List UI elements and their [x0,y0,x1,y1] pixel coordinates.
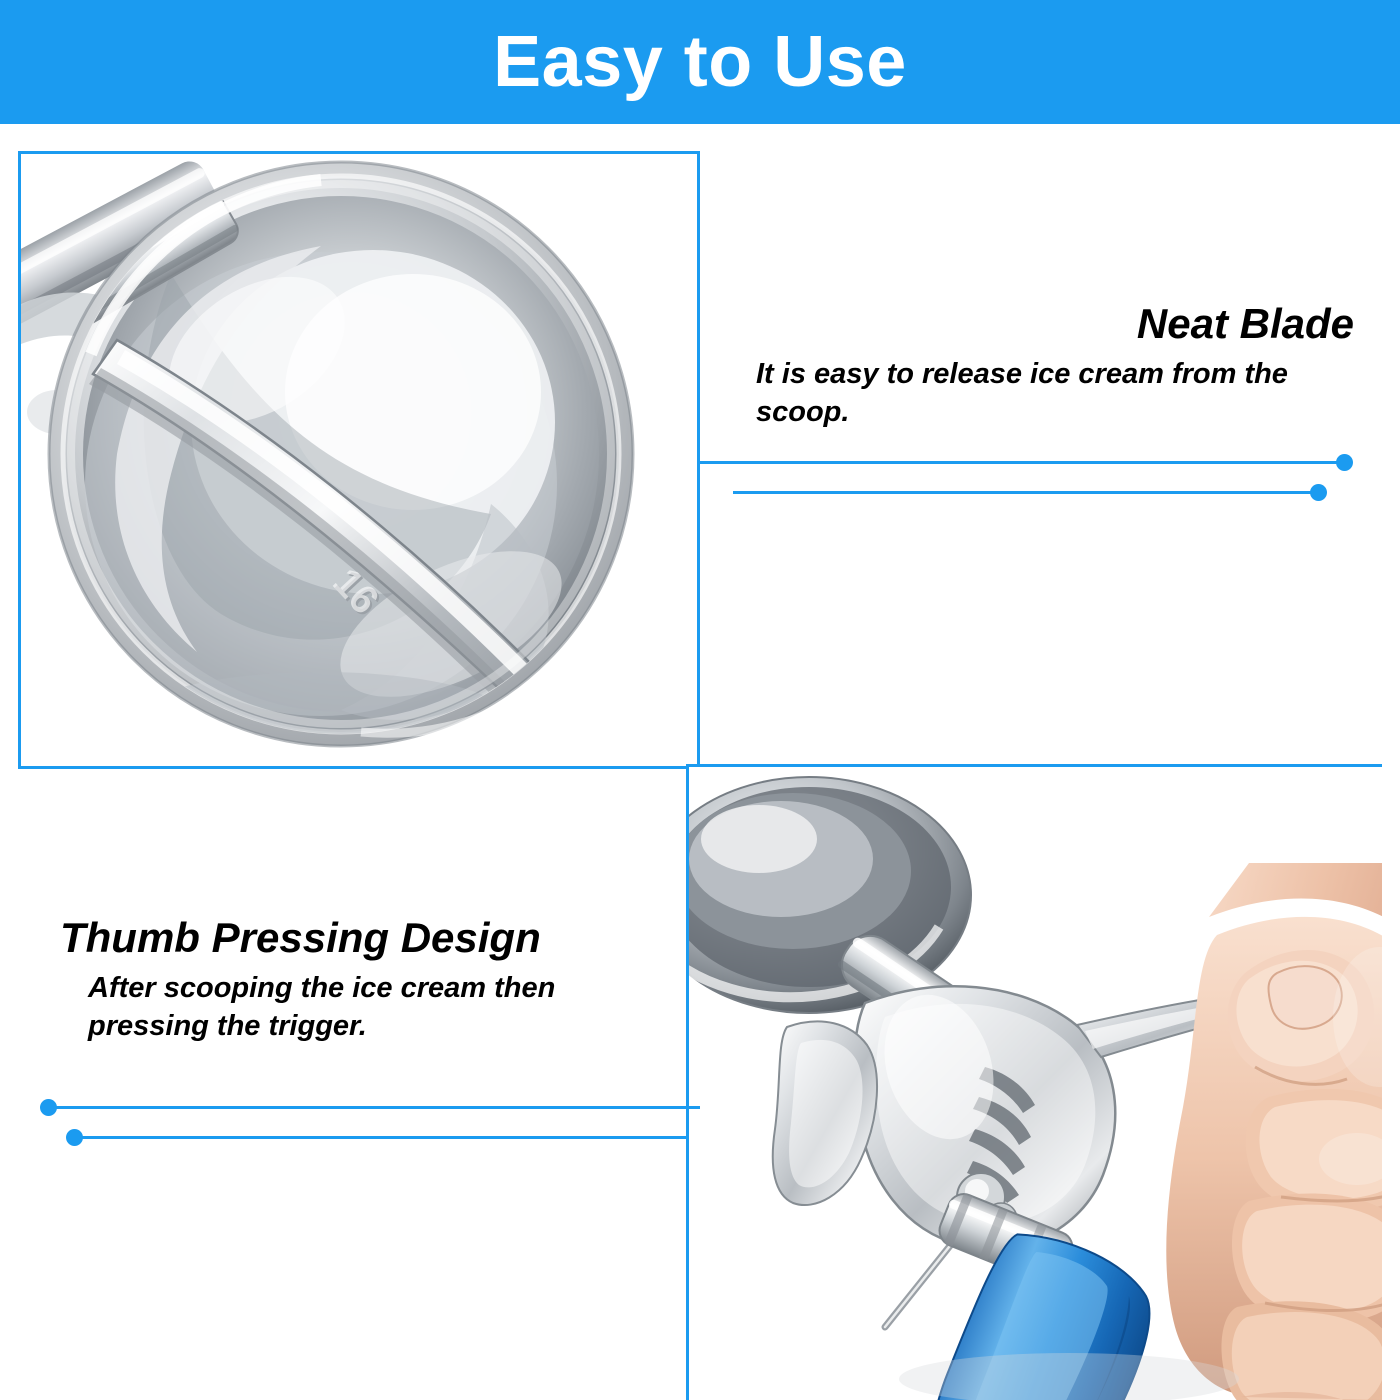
leader-line-left-2 [82,1136,686,1139]
photo-panel-thumb-pressing [686,764,1382,1400]
scoop-illustration: 16 16 [21,154,697,766]
callout-body-neat-blade: It is easy to release ice cream from the… [742,355,1362,432]
leader-line-left-1 [56,1106,700,1109]
scoop-photo: 16 16 [21,154,697,766]
photo-panel-neat-blade: 16 16 [18,151,700,769]
leader-dot-right-2 [1310,484,1327,501]
leader-dot-left-2 [66,1129,83,1146]
leader-line-right-1 [700,461,1344,464]
content-stage: 16 16 [0,124,1400,1400]
leader-dot-left-1 [40,1099,57,1116]
callout-neat-blade: Neat Blade It is easy to release ice cre… [742,300,1362,432]
hand-photo [689,767,1382,1400]
callout-body-thumb-pressing: After scooping the ice cream then pressi… [60,969,680,1046]
header-banner: Easy to Use [0,0,1400,124]
hand-scoop-illustration [689,767,1382,1400]
callout-thumb-pressing: Thumb Pressing Design After scooping the… [60,914,680,1046]
page-title: Easy to Use [493,26,907,98]
callout-heading-neat-blade: Neat Blade [742,300,1362,347]
leader-dot-right-1 [1336,454,1353,471]
callout-heading-thumb-pressing: Thumb Pressing Design [60,914,680,961]
leader-line-right-2 [733,491,1318,494]
